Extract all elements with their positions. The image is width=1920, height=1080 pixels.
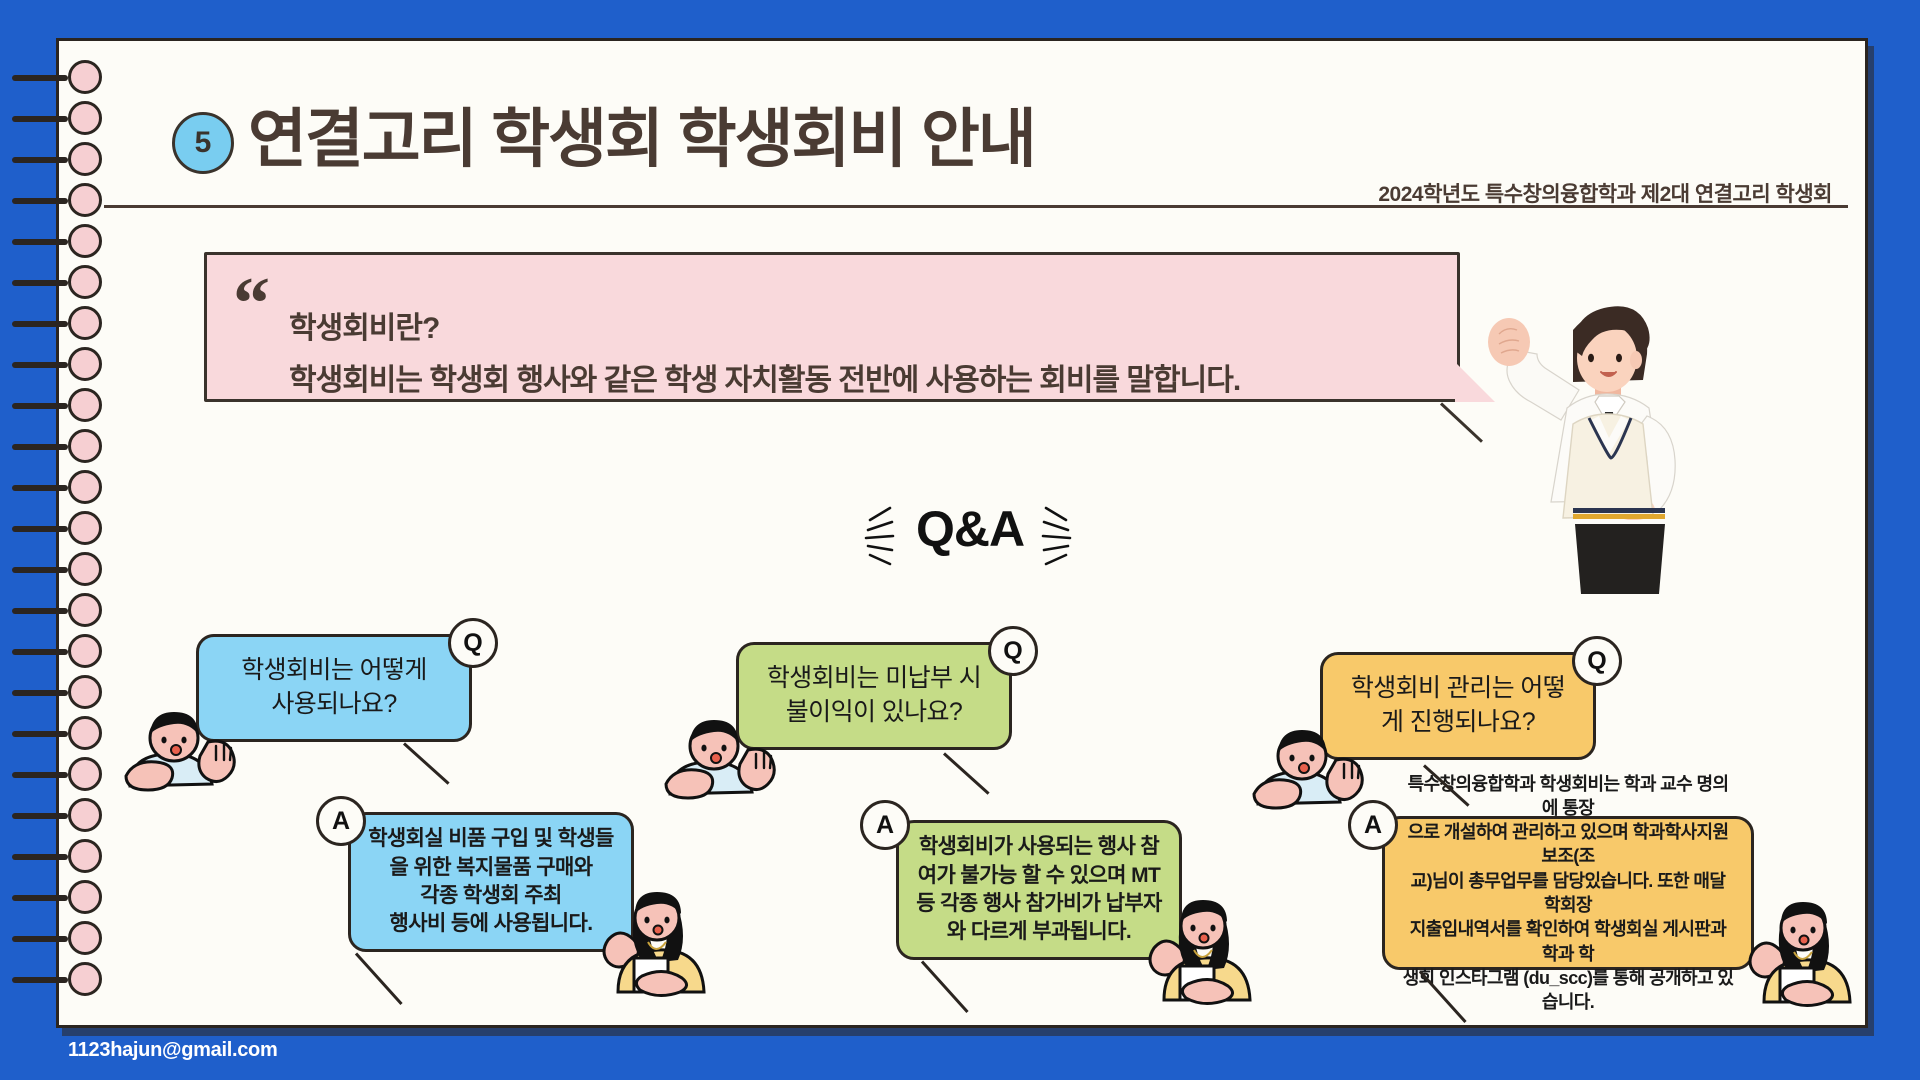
answer-bubble-3-line3: 교)님이 총무업무를 담당있습니다. 또한 매달 학회장 [1401,869,1735,918]
spiral-ring [56,306,92,342]
question-bubble-3-line2: 게 진행되나요? [1351,706,1565,740]
question-marker-3: Q [1572,636,1622,686]
question-bubble-2-line1: 학생회비는 미납부 시 [767,662,981,696]
spiral-ring-circle [68,511,102,545]
question-marker-1: Q [448,618,498,668]
spiral-ring-circle [68,634,102,668]
spiral-ring-bar [12,690,68,696]
spiral-ring-circle [68,429,102,463]
spiral-ring-bar [12,116,68,122]
spiral-ring-bar [12,649,68,655]
spiral-ring [56,593,92,629]
spiral-ring [56,716,92,752]
spiral-ring-circle [68,60,102,94]
answer-bubble-1-line3: 각종 학생회 주최 [368,882,614,910]
spiral-ring [56,388,92,424]
answer-bubble-2-line1: 학생회비가 사용되는 행사 참 [916,833,1162,861]
spiral-ring-circle [68,839,102,873]
spiral-ring-bar [12,362,68,368]
question-bubble-3-line1: 학생회비 관리는 어떻 [1351,672,1565,706]
spiral-ring-circle [68,347,102,381]
spiral-binding [0,60,120,1020]
definition-box: “ 학생회비란? 학생회비는 학생회 행사와 같은 학생 자치활동 전반에 사용… [204,252,1460,402]
spiral-ring [56,142,92,178]
main-student-illustration [1455,290,1715,595]
spiral-ring-circle [68,142,102,176]
spiral-ring-circle [68,880,102,914]
spiral-ring [56,552,92,588]
spiral-ring [56,101,92,137]
q-character-1 [112,700,242,800]
spiral-ring-circle [68,388,102,422]
spiral-ring-bar [12,403,68,409]
spiral-ring-circle [68,183,102,217]
page-title: 연결고리 학생회 학생회비 안내 [248,88,1035,180]
answer-bubble-3[interactable]: 특수창의융합학과 학생회비는 학과 교수 명의에 통장 으로 개설하여 관리하고… [1382,816,1754,970]
answer-bubble-2-line2: 여가 불가능 할 수 있으며 MT [916,862,1162,890]
spiral-ring [56,675,92,711]
spiral-ring [56,921,92,957]
spiral-ring [56,429,92,465]
answer-bubble-2-line3: 등 각종 행사 참가비가 납부자 [916,890,1162,918]
definition-heading: 학생회비란? [289,303,439,347]
spiral-ring-bar [12,526,68,532]
sparkle-right-icon [1040,500,1096,572]
sparkle-left-icon [840,500,896,572]
definition-callout: “ 학생회비란? 학생회비는 학생회 행사와 같은 학생 자치활동 전반에 사용… [204,252,1460,402]
answer-bubble-1-line2: 을 위한 복지물품 구매와 [368,854,614,882]
spiral-ring-bar [12,895,68,901]
spiral-ring-circle [68,101,102,135]
header-divider [104,205,1848,208]
spiral-ring [56,757,92,793]
spiral-ring-circle [68,675,102,709]
answer-marker-3: A [1348,800,1398,850]
spiral-ring-bar [12,157,68,163]
spiral-ring-bar [12,485,68,491]
spiral-ring [56,347,92,383]
spiral-ring-bar [12,239,68,245]
spiral-ring-bar [12,567,68,573]
definition-body: 학생회비는 학생회 행사와 같은 학생 자치활동 전반에 사용하는 회비를 말합… [289,355,1240,399]
qa-heading: Q&A [880,500,1060,558]
spiral-ring [56,265,92,301]
spiral-ring-bar [12,75,68,81]
spiral-ring-circle [68,306,102,340]
spiral-ring-bar [12,444,68,450]
a-character-2 [1136,888,1266,1006]
spiral-ring [56,224,92,260]
spiral-ring [56,839,92,875]
spiral-ring-circle [68,593,102,627]
spiral-ring-circle [68,470,102,504]
question-bubble-1-line1: 학생회비는 어떻게 [241,654,427,688]
answer-bubble-1-line1: 학생회실 비품 구입 및 학생들 [368,825,614,853]
q-character-2 [652,708,782,808]
q-character-3 [1240,718,1370,818]
footer-email: 1123hajun@gmail.com [68,1039,277,1062]
question-marker-2: Q [988,626,1038,676]
spiral-ring-circle [68,224,102,258]
spiral-ring-bar [12,772,68,778]
answer-bubble-3-line1: 특수창의융합학과 학생회비는 학과 교수 명의에 통장 [1401,772,1735,821]
answer-bubble-2-line4: 와 다르게 부과됩니다. [916,918,1162,946]
spiral-ring-circle [68,757,102,791]
page-subtitle: 2024학년도 특수창의융합학과 제2대 연결고리 학생회 [1378,178,1832,208]
spiral-ring [56,470,92,506]
spiral-ring-bar [12,608,68,614]
answer-marker-1: A [316,796,366,846]
spiral-ring [56,183,92,219]
answer-bubble-1-line4: 행사비 등에 사용됩니다. [368,910,614,938]
question-bubble-2-line2: 불이익이 있나요? [767,696,981,730]
spiral-ring-bar [12,731,68,737]
question-bubble-1-line2: 사용되나요? [241,688,427,722]
spiral-ring-bar [12,321,68,327]
spiral-ring-bar [12,813,68,819]
spiral-ring [56,962,92,998]
quote-mark-icon: “ [233,267,270,341]
answer-bubble-3-line2: 으로 개설하여 관리하고 있으며 학과학사지원보조(조 [1401,820,1735,869]
spiral-ring-circle [68,265,102,299]
spiral-ring-bar [12,936,68,942]
spiral-ring-circle [68,962,102,996]
a-character-1 [590,880,720,998]
spiral-ring-bar [12,198,68,204]
answer-marker-2: A [860,800,910,850]
slide-number-badge: 5 [172,112,234,174]
answer-bubble-3-line4: 지출입내역서를 확인하여 학생회실 게시판과 학과 학 [1401,917,1735,966]
spiral-ring [56,798,92,834]
spiral-ring-circle [68,552,102,586]
spiral-ring [56,60,92,96]
spiral-ring [56,634,92,670]
spiral-ring [56,880,92,916]
slide-root: 5 연결고리 학생회 학생회비 안내 2024학년도 특수창의융합학과 제2대 … [0,0,1920,1080]
spiral-ring-circle [68,798,102,832]
spiral-ring-bar [12,977,68,983]
spiral-ring-bar [12,854,68,860]
spiral-ring [56,511,92,547]
spiral-ring-circle [68,716,102,750]
spiral-ring-bar [12,280,68,286]
spiral-ring-circle [68,921,102,955]
a-character-3 [1736,890,1866,1008]
